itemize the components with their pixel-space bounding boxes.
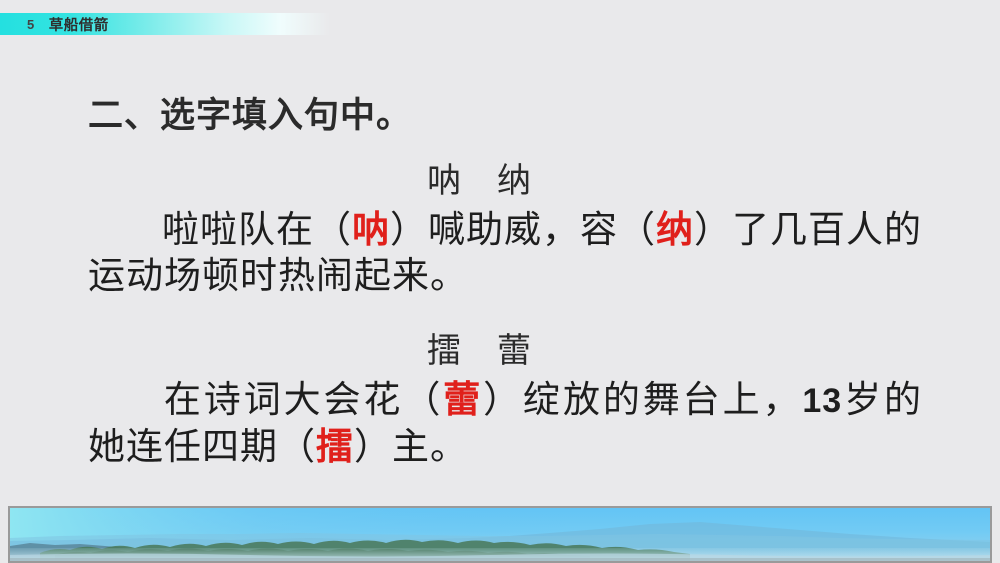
footer-landscape-image [8,506,992,563]
lesson-title: 草船借箭 [49,14,109,35]
sentence-1-part-2: ）喊助威，容（ [390,210,656,251]
char-choice-pair-1: 呐纳 [0,153,1000,202]
exercise-block-2: 擂蕾 在诗词大会花（蕾）绽放的舞台上，13岁的她连任四期（擂）主。 [0,323,1000,471]
answer-1: 呐 [352,210,390,251]
answer-2: 纳 [656,210,694,251]
sentence-2-part-6: ）主。 [354,427,468,468]
char-choice-1a: 呐 [427,161,463,201]
sentence-2: 在诗词大会花（蕾）绽放的舞台上，13岁的她连任四期（擂）主。 [0,378,1000,471]
age-number: 13 [802,382,842,420]
char-choice-1b: 纳 [497,161,533,201]
answer-4: 擂 [316,427,354,468]
answer-3: 蕾 [443,380,483,421]
exercise-heading: 二、选字填入句中。 [0,95,1000,139]
sentence-1: 啦啦队在（呐）喊助威，容（纳）了几百人的运动场顿时热闹起来。 [0,208,1000,301]
slide-content: 二、选字填入句中。 呐纳 啦啦队在（呐）喊助威，容（纳）了几百人的运动场顿时热闹… [0,95,1000,471]
shoreline [10,558,990,561]
header: 5 草船借箭 [0,12,109,36]
char-choice-pair-2: 擂蕾 [0,323,1000,372]
lesson-number: 5 [27,17,35,32]
char-choice-2b: 蕾 [497,331,533,371]
sentence-2-part-0: 在诗词大会花（ [162,380,443,421]
landscape-illustration [10,508,990,561]
sentence-2-part-2: ）绽放的舞台上， [483,380,802,421]
sentence-1-part-0: 啦啦队在（ [162,210,352,251]
char-choice-2a: 擂 [427,331,463,371]
exercise-block-1: 呐纳 啦啦队在（呐）喊助威，容（纳）了几百人的运动场顿时热闹起来。 [0,153,1000,301]
